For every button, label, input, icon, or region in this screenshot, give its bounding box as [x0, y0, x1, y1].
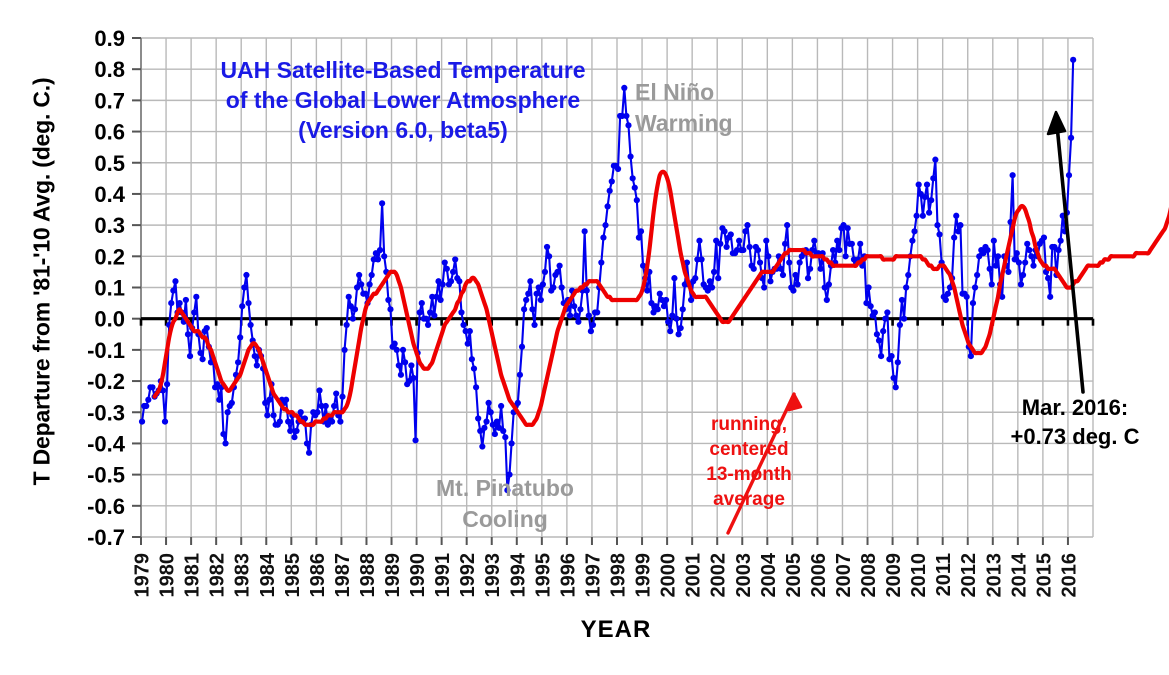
chart-title-line: UAH Satellite-Based Temperature: [220, 57, 585, 83]
svg-text:0.0: 0.0: [94, 307, 125, 332]
annotation-running-average: 13-month: [706, 464, 792, 485]
svg-text:1982: 1982: [207, 553, 229, 598]
svg-text:1986: 1986: [307, 553, 329, 598]
annotation-pinatubo: Mt. Pinatubo: [436, 475, 574, 501]
svg-text:2002: 2002: [708, 553, 730, 598]
svg-text:0.5: 0.5: [94, 151, 125, 176]
svg-text:1983: 1983: [232, 553, 254, 598]
svg-text:2016: 2016: [1058, 553, 1080, 598]
svg-text:-0.1: -0.1: [87, 338, 125, 363]
svg-text:0.1: 0.1: [94, 276, 125, 301]
svg-text:1985: 1985: [282, 553, 304, 598]
annotation-el-nino: El Niño: [635, 79, 714, 105]
svg-text:1996: 1996: [557, 553, 579, 598]
svg-text:2004: 2004: [758, 552, 780, 597]
svg-text:0.9: 0.9: [94, 26, 125, 51]
svg-text:2015: 2015: [1033, 553, 1055, 598]
y-axis-title: T Departure from '81-'10 Avg. (deg. C.): [29, 2, 56, 562]
svg-text:2005: 2005: [783, 553, 805, 598]
svg-text:1988: 1988: [357, 553, 379, 598]
annotation-mar-2016: Mar. 2016:: [1022, 395, 1128, 420]
annotation-el-nino: Warming: [635, 110, 733, 136]
svg-text:1991: 1991: [432, 553, 454, 598]
svg-text:0.2: 0.2: [94, 244, 125, 269]
svg-text:1980: 1980: [157, 553, 179, 598]
svg-text:1995: 1995: [532, 553, 554, 598]
svg-text:0.6: 0.6: [94, 120, 125, 145]
svg-text:0.4: 0.4: [94, 182, 125, 207]
svg-text:2007: 2007: [833, 553, 855, 598]
svg-text:-0.2: -0.2: [87, 369, 125, 394]
annotation-mar-2016: +0.73 deg. C: [1010, 424, 1139, 449]
svg-text:1998: 1998: [608, 553, 630, 598]
svg-text:1999: 1999: [633, 553, 655, 598]
svg-text:1987: 1987: [332, 553, 354, 598]
svg-text:1984: 1984: [257, 552, 279, 597]
svg-text:2008: 2008: [858, 553, 880, 598]
svg-text:1994: 1994: [507, 552, 529, 597]
chart-title-line: of the Global Lower Atmosphere: [226, 87, 580, 113]
svg-text:-0.7: -0.7: [87, 525, 125, 550]
x-axis-ticks: 1979198019811982198319841985198619871988…: [132, 537, 1081, 598]
svg-text:1979: 1979: [132, 553, 154, 598]
y-axis-ticks: 0.90.80.70.60.50.40.30.20.10.0-0.1-0.2-0…: [87, 26, 141, 550]
svg-text:2010: 2010: [908, 553, 930, 598]
annotation-running-average: centered: [709, 439, 788, 460]
svg-text:1997: 1997: [582, 553, 604, 598]
svg-text:2001: 2001: [683, 553, 705, 598]
svg-text:0.7: 0.7: [94, 88, 125, 113]
x-axis-title: YEAR: [581, 616, 652, 643]
svg-text:2011: 2011: [933, 553, 955, 596]
svg-text:2003: 2003: [733, 553, 755, 598]
svg-text:2013: 2013: [983, 553, 1005, 598]
svg-text:1993: 1993: [482, 553, 504, 598]
svg-text:1989: 1989: [382, 553, 404, 598]
svg-text:1981: 1981: [182, 553, 204, 598]
zero-baseline: [141, 319, 1093, 326]
svg-text:0.3: 0.3: [94, 213, 125, 238]
svg-text:-0.5: -0.5: [87, 463, 125, 488]
svg-text:1992: 1992: [457, 553, 479, 598]
temperature-anomaly-chart: 0.90.80.70.60.50.40.30.20.10.0-0.1-0.2-0…: [0, 0, 1169, 675]
svg-text:2009: 2009: [883, 553, 905, 598]
svg-text:2006: 2006: [808, 553, 830, 598]
svg-text:0.8: 0.8: [94, 57, 125, 82]
chart-root: T Departure from '81-'10 Avg. (deg. C.) …: [0, 0, 1169, 675]
svg-text:2000: 2000: [658, 553, 680, 598]
annotation-pinatubo: Cooling: [462, 506, 548, 532]
svg-text:-0.6: -0.6: [87, 494, 125, 519]
svg-text:2014: 2014: [1008, 552, 1030, 597]
svg-text:2012: 2012: [958, 553, 980, 598]
svg-text:-0.3: -0.3: [87, 400, 125, 425]
chart-title-line: (Version 6.0, beta5): [298, 117, 508, 143]
svg-text:1990: 1990: [407, 553, 429, 598]
svg-text:-0.4: -0.4: [87, 431, 126, 456]
